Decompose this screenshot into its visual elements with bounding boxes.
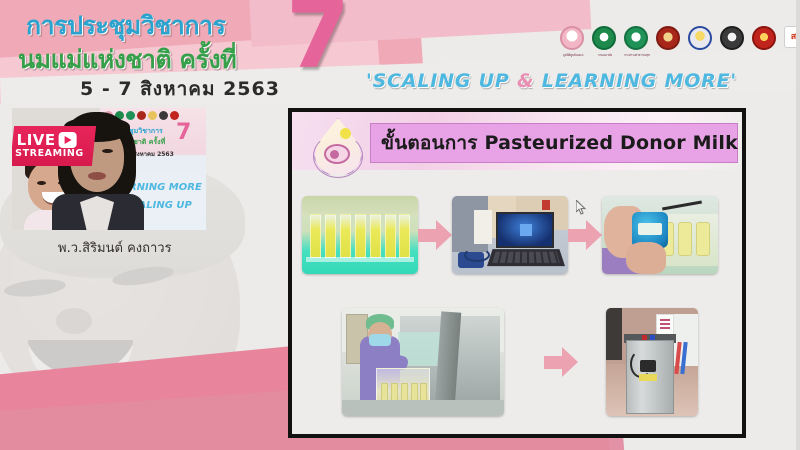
conference-dates: 5 - 7 สิงหาคม 2563 <box>80 74 280 104</box>
photo-milk-bottle-rack <box>302 196 418 274</box>
royal-emblem-logo <box>656 26 682 56</box>
streaming-label: STREAMING <box>15 148 93 160</box>
photo-stainless-storage-unit <box>606 308 698 416</box>
poster-edition-number: 7 <box>176 122 191 144</box>
sponsor-logo-strip: มูลนิธิศูนย์นมแม่ กรมอนามัย กระทรวงสาธาร… <box>560 26 800 56</box>
live-streaming-badge: LIVE STREAMING <box>12 126 96 166</box>
royal-college-logo <box>752 26 778 56</box>
slide-right-edge <box>796 0 800 450</box>
presentation-slide: การประชุมวิชาการ นมแม่แห่งชาติ ครั้งที่ … <box>0 0 800 450</box>
arrow-right-3 <box>544 347 578 377</box>
thai-pediatric-society-logo <box>688 26 714 56</box>
live-label: LIVE <box>17 133 56 148</box>
panel-title-banner: ขั้นตอนการ Pasteurized Donor Milk <box>370 123 738 163</box>
process-row-bottom <box>342 308 698 416</box>
conference-tagline: 'SCALING UP & LEARNING MORE' <box>366 70 737 92</box>
slide-content-panel: ขั้นตอนการ Pasteurized Donor Milk <box>288 108 746 438</box>
breastfeeding-milk-drop-logo <box>310 116 368 182</box>
tagline-ampersand: & <box>517 70 534 92</box>
play-icon <box>59 132 77 148</box>
photo-nurse-loading-pasteurizer <box>342 308 504 416</box>
ministry-public-health-logo: กรมอนามัย <box>592 26 618 56</box>
tagline-suffix: LEARNING MORE' <box>534 70 737 92</box>
photo-handheld-timer <box>602 196 718 274</box>
process-row-top <box>302 196 718 274</box>
live-video-thumbnail[interactable]: การประชุมวิชาการ นมแม่แห่งชาติ ครั้งที่ … <box>12 108 206 230</box>
arrow-right-1 <box>418 220 452 250</box>
edition-number: 7 <box>286 0 350 82</box>
department-health-logo: กระทรวงสาธารณสุข <box>624 26 650 56</box>
arrow-right-2 <box>568 220 602 250</box>
thai-breastfeeding-centre-logo: มูลนิธิศูนย์นมแม่ <box>560 26 586 56</box>
speaker-name: พ.ว.สิริมนต์ คงถาวร <box>58 237 172 258</box>
photo-laptop-barcode-station <box>452 196 568 274</box>
page-title: ขั้นตอนการ Pasteurized Donor Milk <box>381 128 738 158</box>
mouse-pointer <box>576 200 588 216</box>
tagline-prefix: 'SCALING UP <box>366 70 517 92</box>
slide-header: การประชุมวิชาการ นมแม่แห่งชาติ ครั้งที่ … <box>0 0 800 104</box>
nursing-council-logo <box>720 26 746 56</box>
